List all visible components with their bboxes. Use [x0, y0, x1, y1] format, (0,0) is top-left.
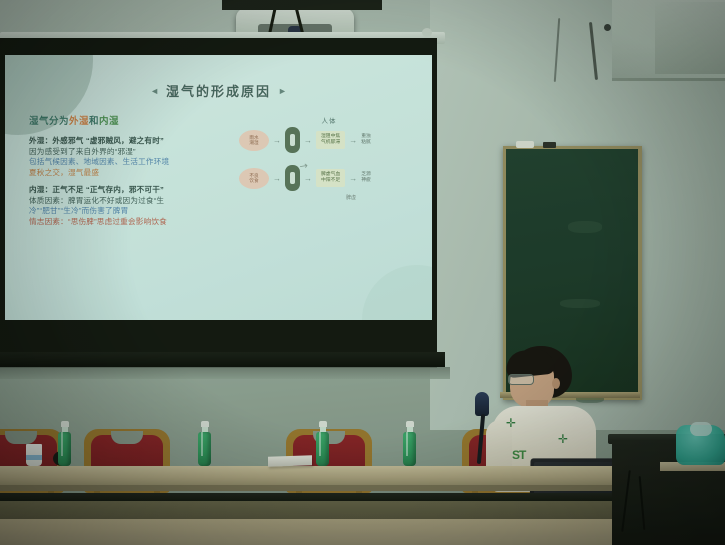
water-bottle[interactable]	[198, 421, 211, 466]
front-table	[0, 466, 640, 485]
diagram-source-rain: 雨水潮湿	[239, 130, 269, 151]
nei-shi-line-3: 冷”“肥甘”“生冷”而伤害了脾胃	[29, 206, 229, 217]
wai-shi-line-2: 因为感受到了来自外界的“邪湿”	[29, 147, 229, 158]
front-table-rail	[0, 493, 640, 501]
diagram-row-external: 雨水潮湿 → → 湿阻中焦气机郁滞 → 重浊粘腻	[239, 127, 419, 153]
slide-section-heading: 湿气分为外湿和内湿	[29, 113, 229, 127]
water-bottle[interactable]	[58, 421, 71, 466]
water-bottle[interactable]	[316, 421, 329, 466]
paper-stack[interactable]	[268, 455, 312, 467]
presentation-slide: ◄ 湿气的形成原因 ► 湿气分为外湿和内湿 外湿：外感邪气 “虚邪贼风，避之有时…	[5, 55, 432, 320]
front-table-edge	[0, 485, 640, 491]
screen-roller-pin	[422, 28, 432, 37]
diagram-arrow-icon: →	[349, 174, 357, 183]
cross-icon: ✛	[558, 432, 568, 446]
microphone[interactable]	[475, 392, 489, 416]
ceiling-beam-face	[655, 2, 725, 74]
slide-diagram: 人体 雨水潮湿 → → 湿阻中焦气机郁滞 → 重浊粘腻 不良饮食 → → 脾虚气…	[239, 115, 419, 201]
slide-title: 湿气的形成原因	[166, 81, 271, 100]
diagram-result-internal: 乏源神疲	[361, 172, 371, 184]
title-right-marker-icon: ►	[278, 86, 287, 96]
bag-highlight	[690, 422, 712, 436]
slide-decor-circle-secondary	[362, 265, 432, 320]
diagram-top-label: 人体	[239, 115, 419, 125]
diagram-arrow-icon: →	[273, 174, 281, 183]
nei-shi-line-4: 情志因素：“思伤脾”思虑过重会影响饮食	[29, 217, 229, 228]
diagram-effect-internal: 脾虚气血中阳不足	[316, 169, 345, 187]
wai-shi-line-4: 夏秋之交，湿气最盛	[29, 168, 229, 179]
wai-shi-line-1: 外湿：外感邪气 “虚邪贼风，避之有时”	[29, 136, 164, 145]
paragraph-wai-shi: 外湿：外感邪气 “虚邪贼风，避之有时” 因为感受到了来自外界的“邪湿” 包括气候…	[29, 136, 229, 178]
ear	[552, 378, 560, 389]
wall-hook	[604, 24, 611, 31]
diagram-arrow-icon: →	[304, 174, 312, 183]
heading-conjunction: 和	[89, 116, 99, 127]
diagram-arrow-icon: →	[273, 136, 281, 145]
diagram-arrow-icon: →	[349, 136, 357, 145]
diagram-effect-external: 湿阻中焦气机郁滞	[316, 131, 345, 149]
shirt-logo: ST	[512, 450, 525, 461]
heading-prefix: 湿气分为	[29, 116, 69, 127]
title-left-marker-icon: ◄	[150, 86, 159, 96]
diagram-body-icon	[285, 127, 300, 153]
paper-cup[interactable]	[26, 444, 42, 466]
screen-bottom-bar	[0, 352, 445, 367]
chalk[interactable]	[516, 141, 534, 148]
heading-inner-damp: 内湿	[99, 116, 119, 127]
classroom-photo: ◄ 湿气的形成原因 ► 湿气分为外湿和内湿 外湿：外感邪气 “虚邪贼风，避之有时…	[0, 0, 725, 545]
diagram-source-diet: 不良饮食	[239, 168, 269, 189]
water-bottle[interactable]	[403, 421, 416, 466]
diagram-result-external: 重浊粘腻	[361, 134, 371, 146]
projector-mount	[222, 0, 382, 10]
diagram-row-internal: 不良饮食 → → 脾虚气血中阳不足 → 乏源神疲	[239, 165, 419, 191]
heading-outer-damp: 外湿	[69, 116, 89, 127]
wai-shi-line-3: 包括气候因素、地域因素、生活工作环境	[29, 157, 229, 168]
nei-shi-line-1: 内湿：正气不足 “正气存内，邪不可干”	[29, 185, 164, 194]
glasses	[508, 374, 534, 385]
slide-body-column: 湿气分为外湿和内湿 外湿：外感邪气 “虚邪贼风，避之有时” 因为感受到了来自外界…	[29, 113, 229, 234]
cross-icon: ✛	[506, 416, 516, 430]
paragraph-nei-shi: 内湿：正气不足 “正气存内，邪不可干” 体质因素：脾胃运化不好或因为过食“生 冷…	[29, 185, 229, 227]
diagram-caption-spleen: 脾虚	[283, 194, 419, 201]
screen-shadow	[0, 367, 450, 379]
nei-shi-line-2: 体质因素：脾胃运化不好或因为过食“生	[29, 196, 229, 207]
blackboard-eraser[interactable]	[543, 142, 556, 148]
slide-title-row: ◄ 湿气的形成原因 ►	[5, 81, 432, 100]
diagram-arrow-icon: →	[304, 136, 312, 145]
